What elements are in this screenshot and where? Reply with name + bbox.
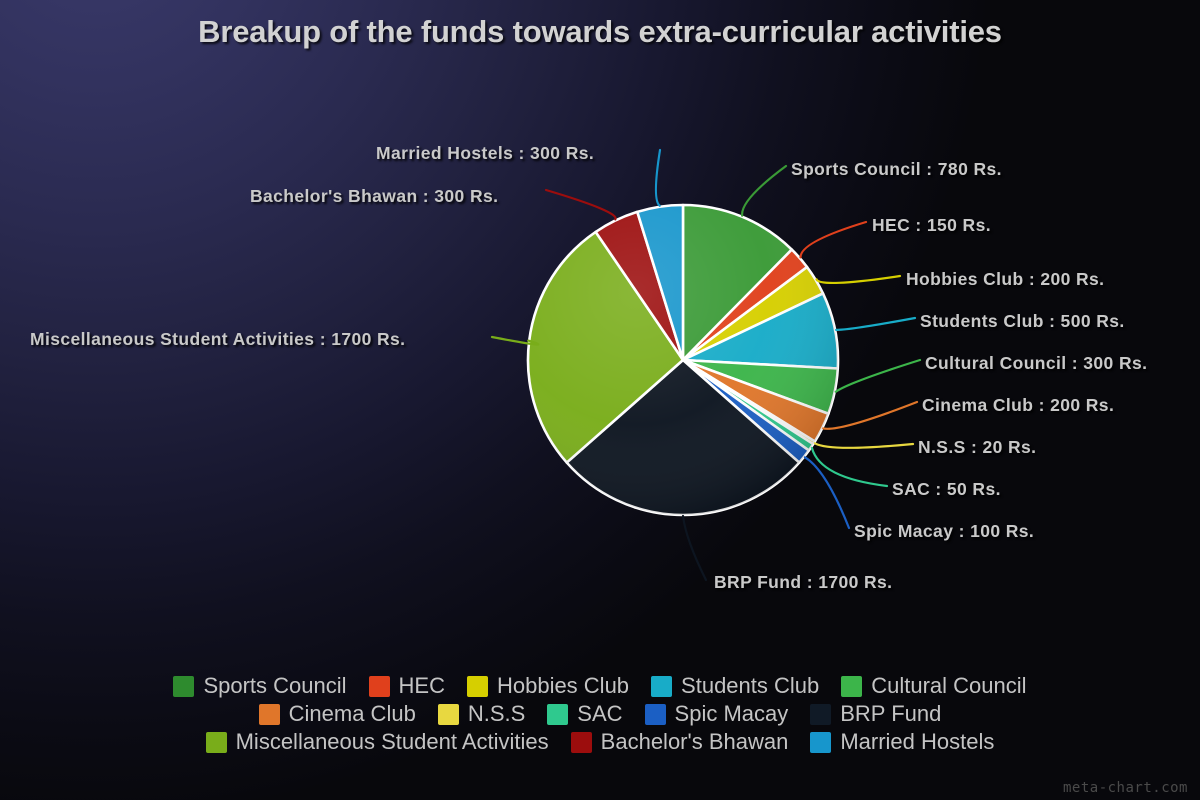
- label-cinema-club: Cinema Club : 200 Rs.: [922, 395, 1114, 416]
- legend-swatch-icon: [467, 676, 488, 697]
- legend-item[interactable]: Married Hostels: [810, 731, 994, 753]
- legend-swatch-icon: [173, 676, 194, 697]
- label-brp-fund: BRP Fund : 1700 Rs.: [714, 572, 892, 593]
- leader-line: [836, 318, 915, 330]
- leader-line: [742, 166, 786, 216]
- leader-line: [815, 443, 913, 448]
- legend-item[interactable]: Students Club: [651, 675, 819, 697]
- legend-swatch-icon: [571, 732, 592, 753]
- legend-swatch-icon: [547, 704, 568, 725]
- leader-line: [836, 360, 920, 392]
- legend-item[interactable]: HEC: [369, 675, 445, 697]
- leader-line: [812, 448, 887, 486]
- legend-swatch-icon: [841, 676, 862, 697]
- pie-chart-figure: Breakup of the funds towards extra-curri…: [0, 0, 1200, 800]
- legend-label: Spic Macay: [675, 703, 789, 725]
- label-sac: SAC : 50 Rs.: [892, 479, 1001, 500]
- legend-swatch-icon: [438, 704, 459, 725]
- legend-label: Miscellaneous Student Activities: [236, 731, 549, 753]
- legend-label: Cinema Club: [289, 703, 416, 725]
- legend-row: Miscellaneous Student ActivitiesBachelor…: [60, 728, 1140, 756]
- legend-swatch-icon: [810, 732, 831, 753]
- label-misc-activities: Miscellaneous Student Activities : 1700 …: [30, 329, 405, 350]
- leader-line: [800, 222, 866, 257]
- label-bachelors-bhawan: Bachelor's Bhawan : 300 Rs.: [250, 186, 498, 207]
- label-married-hostels: Married Hostels : 300 Rs.: [376, 143, 594, 164]
- legend-item[interactable]: SAC: [547, 703, 622, 725]
- legend-swatch-icon: [369, 676, 390, 697]
- label-hobbies-club: Hobbies Club : 200 Rs.: [906, 269, 1104, 290]
- label-sports-council: Sports Council : 780 Rs.: [791, 159, 1002, 180]
- legend-label: N.S.S: [468, 703, 525, 725]
- legend-label: Cultural Council: [871, 675, 1026, 697]
- leader-line: [656, 150, 660, 206]
- watermark: meta-chart.com: [1063, 780, 1188, 796]
- legend-item[interactable]: Cinema Club: [259, 703, 416, 725]
- legend-label: Bachelor's Bhawan: [601, 731, 789, 753]
- leader-line: [546, 190, 616, 219]
- legend-item[interactable]: BRP Fund: [810, 703, 941, 725]
- label-spic-macay: Spic Macay : 100 Rs.: [854, 521, 1034, 542]
- legend-row: Sports CouncilHECHobbies ClubStudents Cl…: [60, 672, 1140, 700]
- legend-swatch-icon: [810, 704, 831, 725]
- legend-swatch-icon: [259, 704, 280, 725]
- legend-label: Students Club: [681, 675, 819, 697]
- legend-row: Cinema ClubN.S.SSACSpic MacayBRP Fund: [60, 700, 1140, 728]
- label-hec: HEC : 150 Rs.: [872, 215, 991, 236]
- legend-item[interactable]: Miscellaneous Student Activities: [206, 731, 549, 753]
- legend-item[interactable]: Hobbies Club: [467, 675, 629, 697]
- legend-label: SAC: [577, 703, 622, 725]
- legend-item[interactable]: Spic Macay: [645, 703, 789, 725]
- legend: Sports CouncilHECHobbies ClubStudents Cl…: [0, 672, 1200, 756]
- legend-item[interactable]: N.S.S: [438, 703, 525, 725]
- label-cultural-council: Cultural Council : 300 Rs.: [925, 353, 1147, 374]
- legend-swatch-icon: [645, 704, 666, 725]
- legend-label: Sports Council: [203, 675, 346, 697]
- leader-line: [683, 516, 706, 580]
- leader-line: [823, 402, 917, 429]
- legend-label: Married Hostels: [840, 731, 994, 753]
- legend-label: BRP Fund: [840, 703, 941, 725]
- legend-label: Hobbies Club: [497, 675, 629, 697]
- legend-swatch-icon: [651, 676, 672, 697]
- pie-slices[interactable]: [528, 205, 838, 515]
- label-students-club: Students Club : 500 Rs.: [920, 311, 1125, 332]
- label-nss: N.S.S : 20 Rs.: [918, 437, 1036, 458]
- legend-label: HEC: [399, 675, 445, 697]
- leader-line: [817, 276, 901, 283]
- legend-item[interactable]: Bachelor's Bhawan: [571, 731, 789, 753]
- legend-item[interactable]: Cultural Council: [841, 675, 1026, 697]
- legend-item[interactable]: Sports Council: [173, 675, 346, 697]
- legend-swatch-icon: [206, 732, 227, 753]
